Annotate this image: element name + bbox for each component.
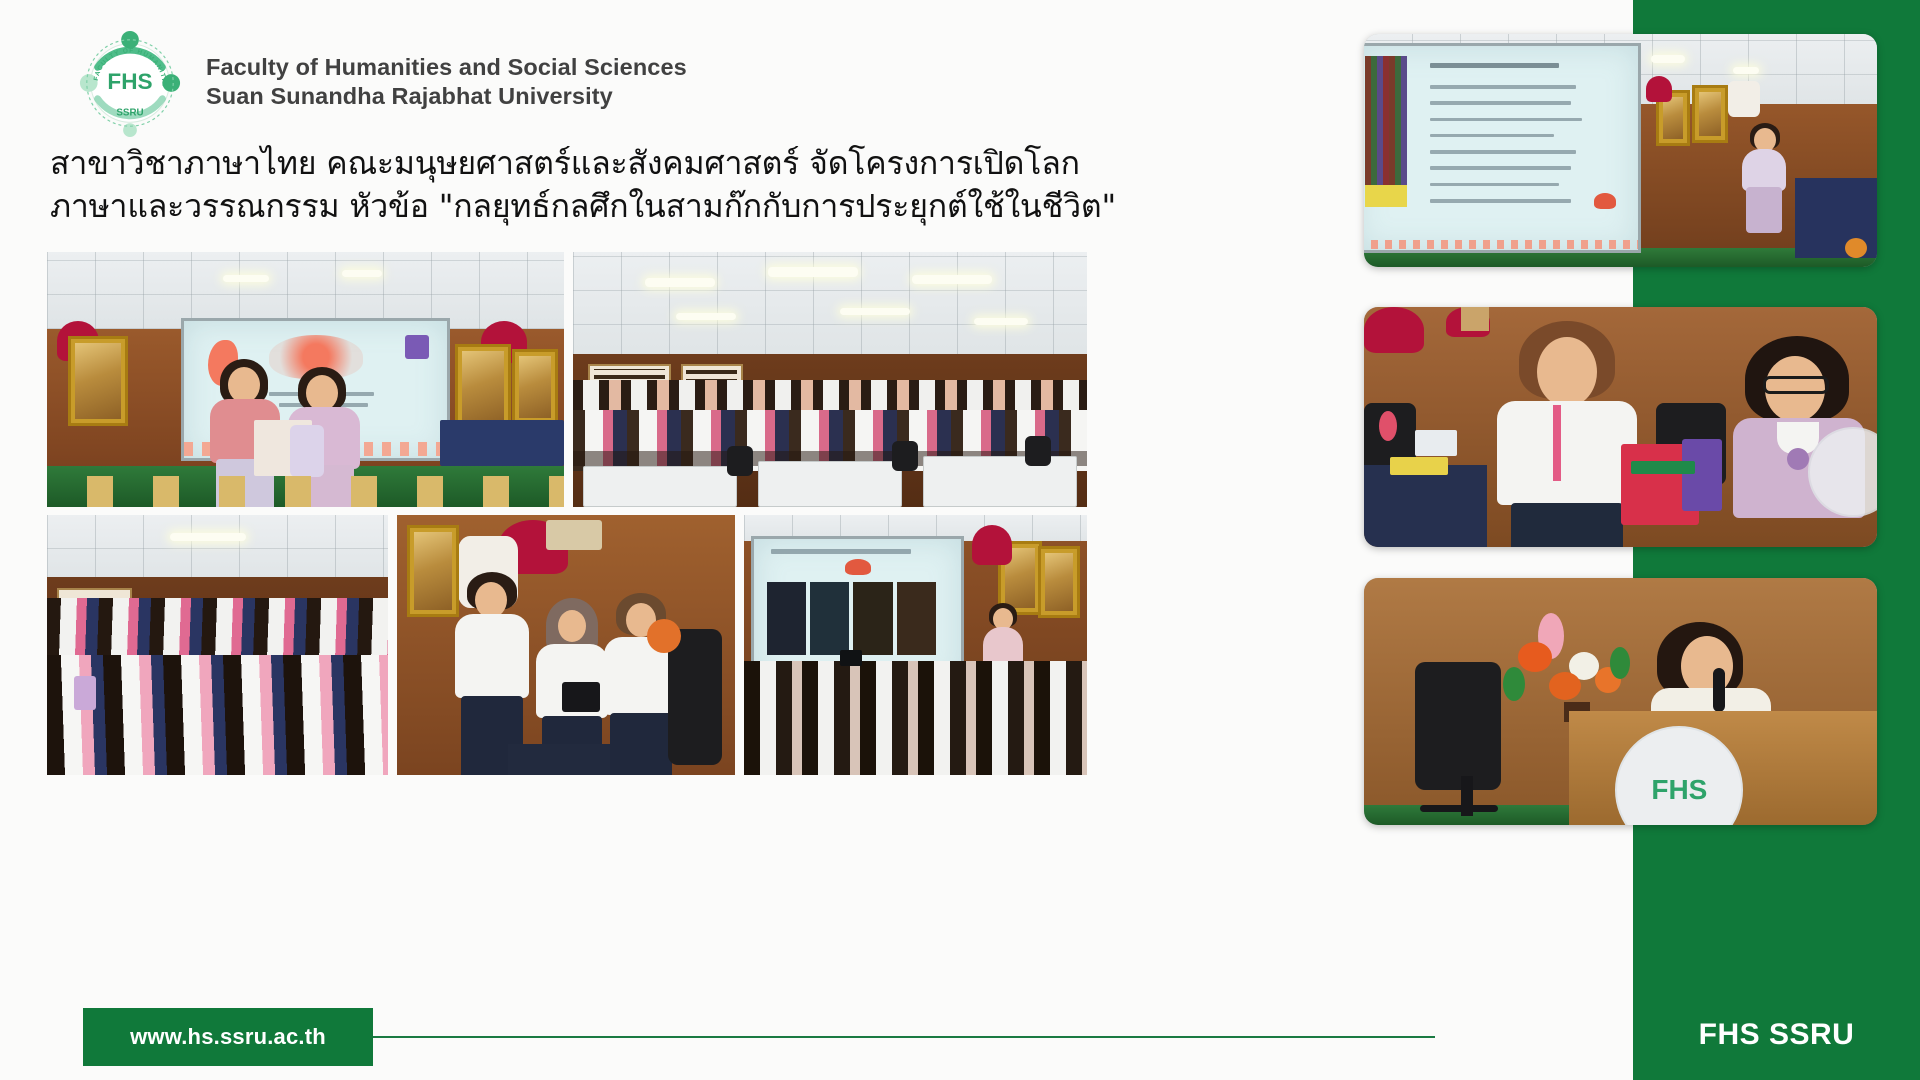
footer-brand: FHS SSRU (1633, 1010, 1920, 1080)
headline-line-1: สาขาวิชาภาษาไทย คณะมนุษยศาสตร์และสังคมศา… (50, 142, 1070, 185)
photo-audience-wide (573, 252, 1087, 507)
footer-brand-label: FHS SSRU (1699, 1018, 1855, 1052)
photo-collage (47, 252, 1087, 775)
svg-text:FHS: FHS (107, 69, 152, 94)
header-title-block: Faculty of Humanities and Social Science… (206, 53, 687, 110)
website-badge[interactable]: www.hs.ssru.ac.th (83, 1008, 373, 1066)
page-title: สาขาวิชาภาษาไทย คณะมนุษยศาสตร์และสังคมศา… (50, 142, 1070, 227)
photo-award-ceremony (47, 252, 564, 507)
header: FHS SSRU FACULTY OF HUMANITIES AND SOCIA… (76, 24, 687, 140)
photo-students-presenting (397, 515, 736, 775)
header-line-2: Suan Sunandha Rajabhat University (206, 82, 687, 111)
fhs-logo-icon: FHS SSRU FACULTY OF HUMANITIES AND SOCIA… (76, 24, 184, 140)
sidebar-photo-column: FHS (1360, 0, 1920, 1080)
website-url: www.hs.ssru.ac.th (130, 1024, 326, 1050)
photo-speaker-slide (1364, 34, 1877, 267)
photo-students-group (47, 515, 388, 775)
photo-gift-presentation (1364, 307, 1877, 547)
svg-text:SSRU: SSRU (116, 107, 143, 118)
footer-divider (373, 1036, 1435, 1038)
header-line-1: Faculty of Humanities and Social Science… (206, 53, 687, 82)
photo-screen-posters (744, 515, 1087, 775)
photo-podium-speaker: FHS (1364, 578, 1877, 825)
headline-line-2: ภาษาและวรรณกรรม หัวข้อ "กลยุทธ์กลศึกในสา… (50, 185, 1070, 228)
